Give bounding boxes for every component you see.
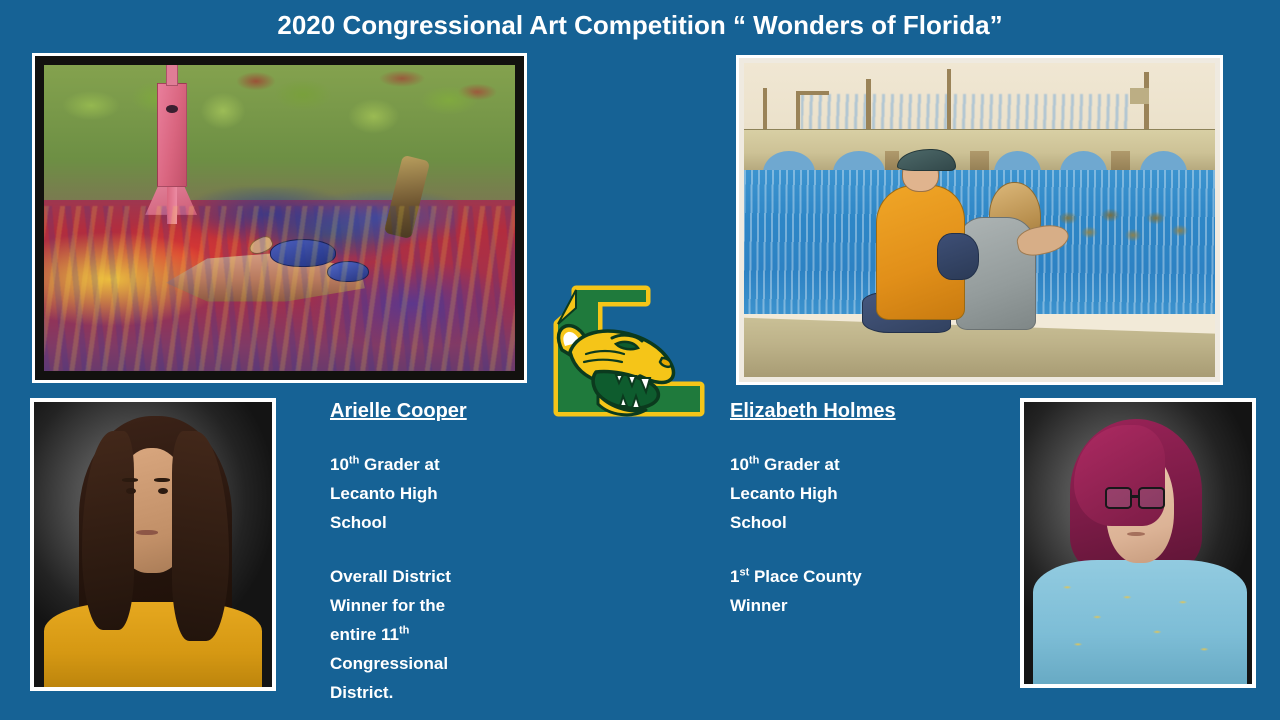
rocks-in-water [1050, 201, 1201, 258]
water-shimmer [44, 206, 515, 371]
lecanto-panthers-logo [528, 282, 718, 430]
student-name-arielle: Arielle Cooper [330, 398, 530, 424]
student-line: Congressional [330, 649, 530, 678]
student-info-elizabeth: Elizabeth Holmes 10th Grader at Lecanto … [730, 398, 940, 620]
ordinal-suffix: st [739, 566, 749, 578]
student-portrait-elizabeth [1020, 398, 1256, 688]
student-line: District. [330, 678, 530, 707]
banana-print-shirt [1033, 560, 1247, 684]
glasses-bridge [1132, 495, 1139, 498]
light-pole-5 [1144, 72, 1149, 135]
student-line: Winner [730, 591, 940, 620]
eyebrow-left [122, 478, 137, 482]
man-arm [937, 233, 979, 280]
student-portrait-arielle [30, 398, 276, 691]
ordinal-suffix: th [399, 624, 409, 636]
panther-logo-icon [528, 282, 718, 430]
eyebrow-right [154, 478, 169, 482]
ordinal-suffix: th [749, 454, 759, 466]
student-line: Winner for the [330, 591, 530, 620]
student-line: Lecanto High [330, 479, 530, 508]
glasses-left-lens [1105, 487, 1132, 510]
wood-duck-box [157, 83, 187, 187]
presentation-slide: 2020 Congressional Art Competition “ Won… [0, 0, 1280, 720]
student-name-elizabeth: Elizabeth Holmes [730, 398, 940, 424]
artwork-left-canvas [44, 65, 515, 371]
yellow-blouse [44, 602, 263, 688]
student-line: 1st Place County [730, 562, 940, 591]
ordinal-suffix: th [349, 454, 359, 466]
artwork-right-canvas [744, 63, 1215, 377]
student-line: 10th Grader at [730, 450, 940, 479]
artwork-image-left [32, 53, 527, 383]
student-line: Lecanto High [730, 479, 940, 508]
light-pole-crossbar [796, 91, 829, 95]
student-line: 10th Grader at [330, 450, 530, 479]
paragraph-spacer [730, 537, 940, 562]
paragraph-spacer [330, 537, 530, 562]
student-details-elizabeth: 10th Grader at Lecanto High School 1st P… [730, 450, 940, 620]
artwork-image-right [736, 55, 1223, 385]
glasses-right-lens [1138, 487, 1165, 510]
student-line: School [730, 508, 940, 537]
sign-box [1130, 88, 1149, 104]
foliage [44, 65, 515, 200]
student-info-arielle: Arielle Cooper 10th Grader at Lecanto Hi… [330, 398, 530, 707]
student-line: Overall District [330, 562, 530, 591]
student-line: School [330, 508, 530, 537]
student-line: entire 11th [330, 620, 530, 649]
student-details-arielle: 10th Grader at Lecanto High School Overa… [330, 450, 530, 707]
mouth [1127, 532, 1145, 537]
page-title: 2020 Congressional Art Competition “ Won… [0, 9, 1280, 41]
